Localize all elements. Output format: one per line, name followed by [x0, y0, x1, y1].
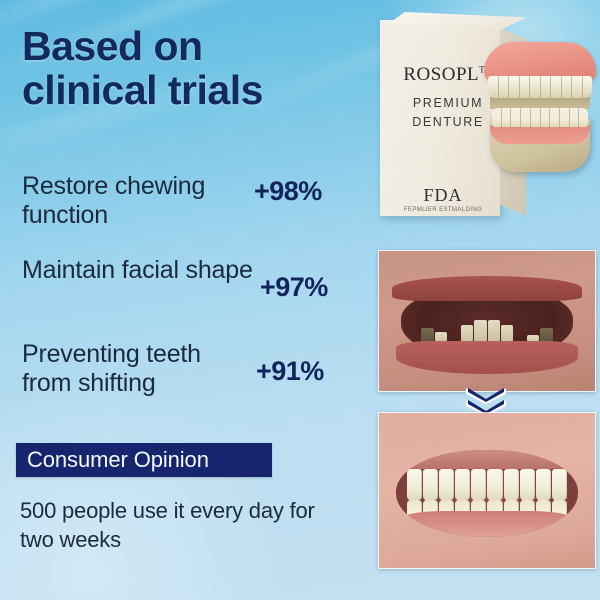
smiling-mouth-region	[396, 450, 577, 537]
product-scene: ROSOPLTM PREMIUM DENTURE FDA FEPMLIER ES…	[372, 8, 600, 236]
benefits-list: Restore chewing function +98% Maintain f…	[22, 172, 366, 424]
tooth	[471, 469, 486, 500]
tooth	[504, 469, 519, 500]
tooth	[499, 76, 510, 98]
list-item: Restore chewing function +98%	[22, 172, 366, 234]
denture-lower-teeth	[492, 108, 588, 127]
product-box-top-panel	[380, 12, 526, 30]
fda-certification-label: FDA	[388, 185, 498, 206]
tooth	[541, 76, 552, 98]
list-item: Maintain facial shape +97%	[22, 256, 366, 318]
after-photo	[378, 412, 596, 569]
tooth	[520, 469, 535, 500]
tooth	[572, 76, 583, 98]
tooth	[511, 108, 521, 127]
tooth	[474, 320, 486, 342]
lower-lip	[404, 511, 571, 537]
headline-line-1: Based on	[22, 24, 362, 68]
page-title: Based on clinical trials	[22, 24, 362, 113]
tooth	[423, 469, 438, 500]
tooth	[502, 108, 512, 127]
tooth	[530, 76, 541, 98]
tooth	[550, 108, 560, 127]
tooth	[509, 76, 520, 98]
tooth	[583, 76, 593, 98]
tooth	[536, 469, 551, 500]
advertisement-banner: Based on clinical trials Restore chewing…	[0, 0, 600, 600]
tooth	[488, 76, 499, 98]
benefit-percent: +97%	[254, 256, 366, 303]
tooth	[520, 76, 531, 98]
list-item: Preventing teeth from shifting +91%	[22, 340, 366, 402]
tooth	[439, 469, 454, 500]
tooth	[570, 108, 580, 127]
mouth-closeup-after	[379, 413, 595, 568]
before-photo	[378, 250, 596, 392]
tooth	[488, 320, 500, 342]
consumer-opinion-note: 500 people use it every day for two week…	[20, 497, 350, 554]
tooth	[551, 76, 562, 98]
denture-model	[482, 36, 598, 176]
tooth	[531, 108, 541, 127]
lower-lip	[396, 341, 577, 375]
denture-lower-gum	[490, 124, 590, 144]
consumer-opinion-label: Consumer Opinion	[16, 447, 209, 473]
tooth	[492, 108, 502, 127]
damaged-teeth-row	[421, 318, 552, 343]
benefit-label: Preventing teeth from shifting	[22, 340, 254, 398]
mouth-closeup-before	[379, 251, 595, 391]
tooth	[487, 469, 502, 500]
tooth	[562, 76, 573, 98]
tooth	[407, 469, 422, 500]
benefit-label: Restore chewing function	[22, 172, 254, 230]
product-fine-print: FEPMLIER ESTMALDING	[388, 207, 498, 213]
benefit-percent: +91%	[254, 340, 366, 387]
brand-text: ROSOPL	[403, 64, 479, 85]
benefit-label: Maintain facial shape	[22, 256, 254, 285]
upper-lip	[392, 276, 582, 301]
tooth	[552, 469, 567, 500]
tooth	[541, 108, 551, 127]
tooth	[579, 108, 588, 127]
denture-upper-teeth	[488, 76, 592, 98]
tooth	[521, 108, 531, 127]
upper-teeth-row	[407, 469, 567, 500]
right-media-column: ROSOPLTM PREMIUM DENTURE FDA FEPMLIER ES…	[372, 0, 600, 600]
consumer-opinion-banner: Consumer Opinion	[16, 443, 272, 477]
tooth	[560, 108, 570, 127]
tooth	[455, 469, 470, 500]
benefit-percent: +98%	[254, 172, 366, 207]
headline-line-2: clinical trials	[22, 68, 362, 112]
left-content-column: Based on clinical trials Restore chewing…	[0, 0, 372, 600]
upper-lip	[400, 450, 574, 469]
